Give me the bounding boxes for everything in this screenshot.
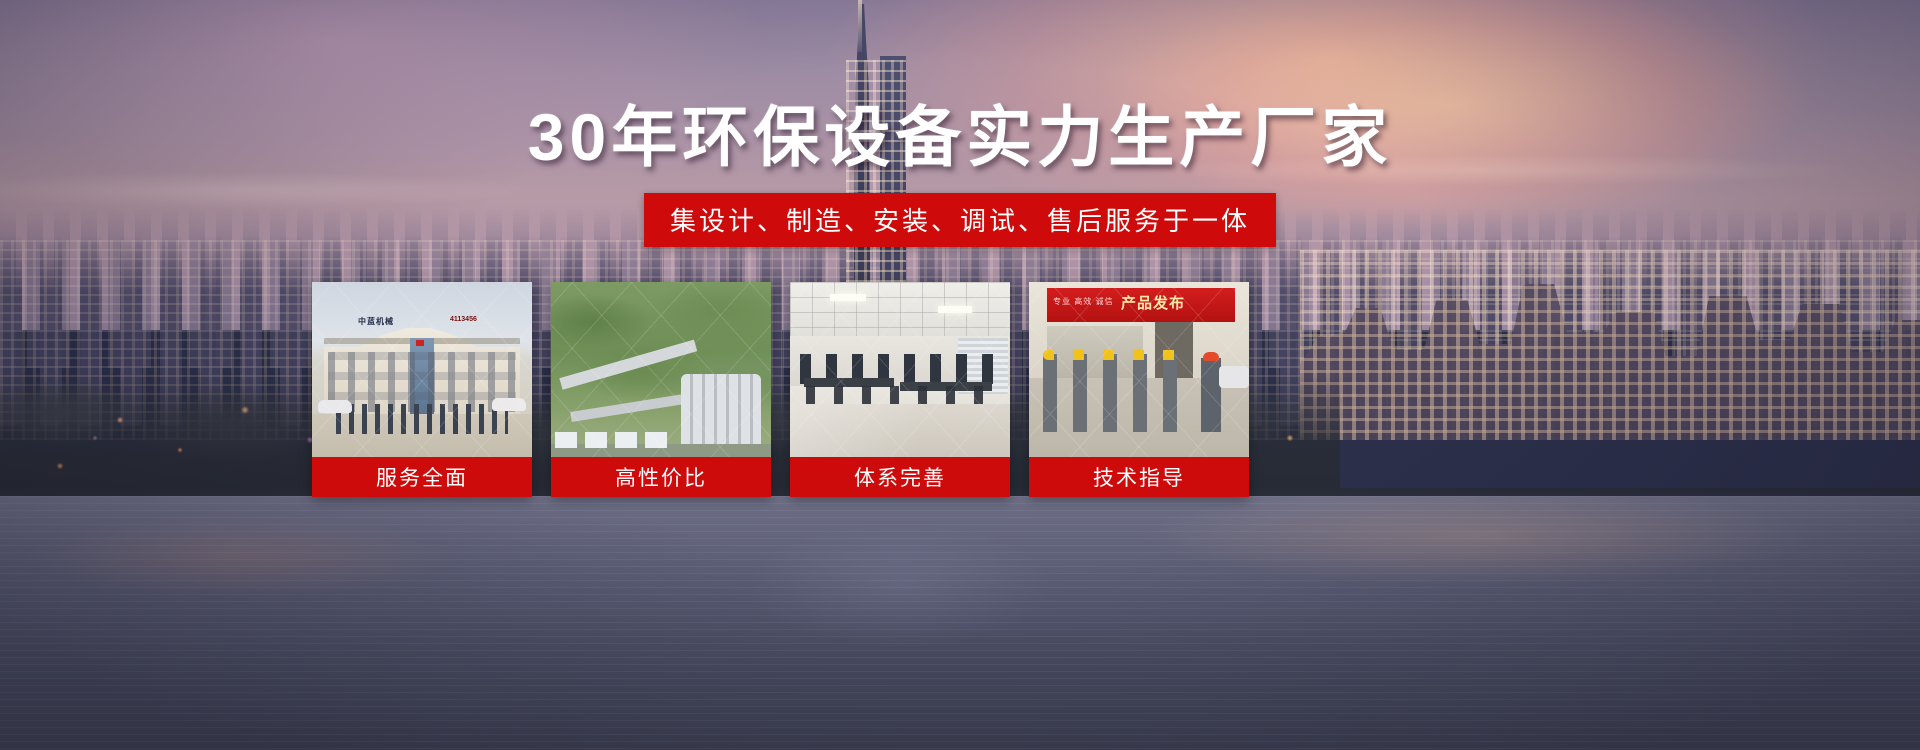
flag-icon <box>416 340 424 346</box>
parked-car-left <box>318 400 352 413</box>
safety-helmet-icon <box>1043 350 1193 360</box>
aerial-production-plant-photo <box>551 282 771 457</box>
building-sign-text: 中蓝机械 <box>358 316 394 327</box>
lead-worker <box>1201 358 1221 432</box>
banner-subtitle-badge: 集设计、制造、安装、调试、售后服务于一体 <box>644 193 1276 247</box>
storage-silos <box>681 374 761 444</box>
feature-card-caption: 高性价比 <box>551 457 771 497</box>
floor-reflection <box>790 404 1010 457</box>
feature-card-value[interactable]: 高性价比 <box>551 282 771 497</box>
lead-worker-helmet-icon <box>1203 352 1219 361</box>
factory-banner-subtext: 专业 高效 诚信 <box>1053 296 1113 307</box>
staff-row <box>336 404 508 434</box>
workers-factory-yard-photo: 专业 高效 诚信 产品发布 <box>1029 282 1249 457</box>
plant-trucks <box>555 432 675 448</box>
feature-card-system[interactable]: 体系完善 <box>790 282 1010 497</box>
ceiling-grid <box>790 282 1010 336</box>
banner-subtitle-wrapper: 集设计、制造、安装、调试、售后服务于一体 <box>0 193 1920 247</box>
hero-banner: 30年环保设备实力生产厂家 集设计、制造、安装、调试、售后服务于一体 中蓝机械 … <box>0 0 1920 750</box>
ceiling-light-right <box>938 306 972 313</box>
banner-content: 30年环保设备实力生产厂家 集设计、制造、安装、调试、售后服务于一体 中蓝机械 … <box>0 0 1920 750</box>
feature-card-caption: 技术指导 <box>1029 457 1249 497</box>
feature-card-guidance[interactable]: 专业 高效 诚信 产品发布 技术指导 <box>1029 282 1249 497</box>
feature-card-caption: 体系完善 <box>790 457 1010 497</box>
worker-row <box>1043 354 1193 432</box>
ceiling-light-left <box>830 294 866 301</box>
company-office-building-photo: 中蓝机械 4113456 <box>312 282 532 457</box>
factory-banner-text: 产品发布 <box>1121 292 1185 313</box>
feature-card-caption: 服务全面 <box>312 457 532 497</box>
banner-headline: 30年环保设备实力生产厂家 <box>0 104 1920 170</box>
yard-vehicle <box>1219 366 1249 388</box>
feature-card-service[interactable]: 中蓝机械 4113456 服务全面 <box>312 282 532 497</box>
office-meeting-interior-photo <box>790 282 1010 457</box>
building-windows <box>328 352 516 412</box>
building-phone-text: 4113456 <box>450 316 477 323</box>
parked-car-right <box>492 398 526 411</box>
feature-card-list: 中蓝机械 4113456 服务全面 <box>312 282 1256 497</box>
